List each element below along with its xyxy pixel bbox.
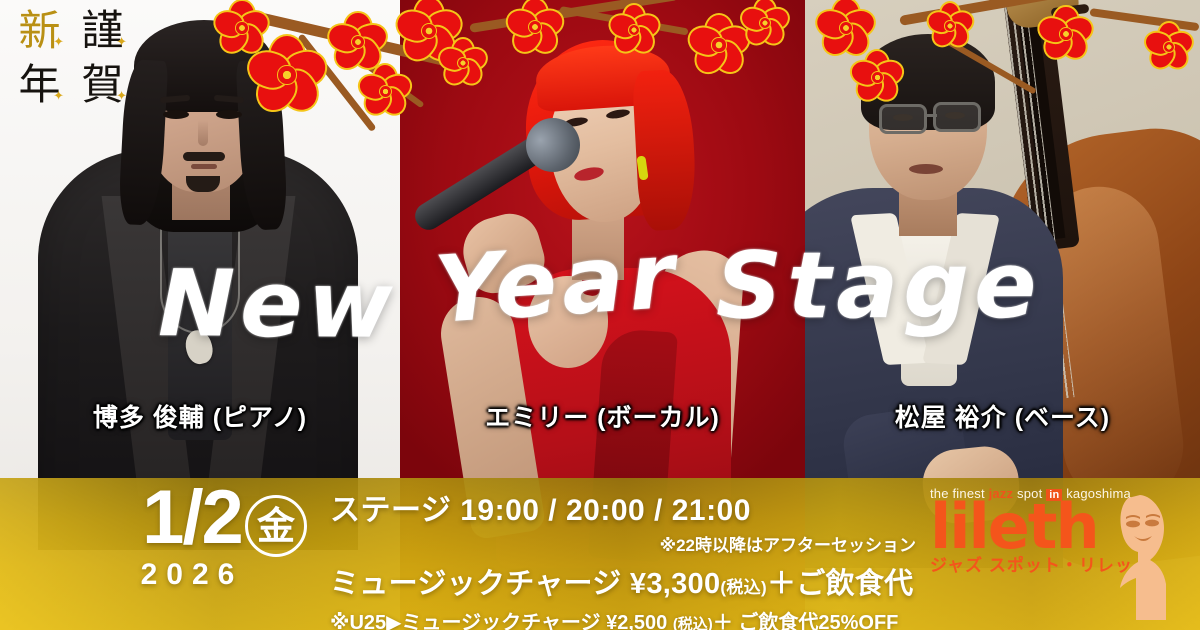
- greeting-char-2: 謹: [71, 4, 134, 58]
- music-charge-amount: ミュージックチャージ ¥3,300: [330, 568, 720, 600]
- new-year-greeting: 新 謹 年 賀: [8, 4, 134, 112]
- pianist-mouth: [191, 164, 217, 169]
- pianist-beard: [186, 176, 220, 192]
- venue-name-japanese: ジャズ スポット・リレット: [930, 551, 1105, 576]
- greeting-char-1: 新: [8, 4, 71, 58]
- performer-caption-bassist: 松屋 裕介 (ベース): [805, 398, 1200, 434]
- day-of-week-badge: 金: [245, 495, 307, 557]
- title-word-new: New: [158, 250, 398, 359]
- music-charge-suffix: ＋ご飲食代: [767, 568, 914, 600]
- greeting-char-3: 年: [8, 58, 71, 112]
- pianist-nose: [198, 120, 208, 146]
- bassist-glasses-left-lens: [879, 104, 927, 134]
- greeting-char-4: 賀: [71, 58, 134, 112]
- after-session-note: ※22時以降はアフターセッション: [330, 531, 920, 556]
- title-word-stage: Stage: [716, 232, 1042, 340]
- music-charge-main: ミュージックチャージ ¥3,300(税込)＋ご飲食代: [330, 560, 920, 602]
- stage-times: ステージ 19:00 / 20:00 / 21:00: [330, 485, 920, 529]
- bassist-glasses-right-lens: [933, 102, 981, 132]
- u25-charge-tax: (税込): [673, 616, 713, 630]
- pianist-moustache: [183, 152, 225, 161]
- bassist-mouth: [909, 164, 943, 174]
- music-charge-tax: (税込): [720, 578, 767, 597]
- performer-caption-vocalist: エミリー (ボーカル): [400, 398, 805, 434]
- lileth-lady-silhouette-icon: [1106, 492, 1182, 620]
- event-poster: 新 謹 年 賀 New Year Stage 博多 俊輔 (ピアノ) エミリー …: [0, 0, 1200, 630]
- pianist-eye-left: [163, 110, 189, 119]
- event-year: 2026: [72, 558, 312, 592]
- music-charge-u25: ※U25▶ミュージックチャージ ¥2,500 (税込)＋ ご飲食代25%OFF: [330, 606, 920, 630]
- u25-charge-suffix: ＋ ご飲食代25%OFF: [713, 612, 899, 630]
- title-word-year: Year: [431, 222, 682, 344]
- u25-charge-prefix: ※U25▶ミュージックチャージ ¥2,500: [330, 612, 673, 630]
- venue-logo[interactable]: the finest jazz spot in kagoshima lileth…: [930, 486, 1105, 576]
- bassist-glasses-bridge: [925, 114, 937, 117]
- performer-caption-pianist: 博多 俊輔 (ピアノ): [0, 398, 400, 434]
- pianist-eye-right: [216, 110, 242, 119]
- event-details: ステージ 19:00 / 20:00 / 21:00 ※22時以降はアフターセッ…: [330, 485, 920, 630]
- venue-name: lileth: [930, 499, 1105, 555]
